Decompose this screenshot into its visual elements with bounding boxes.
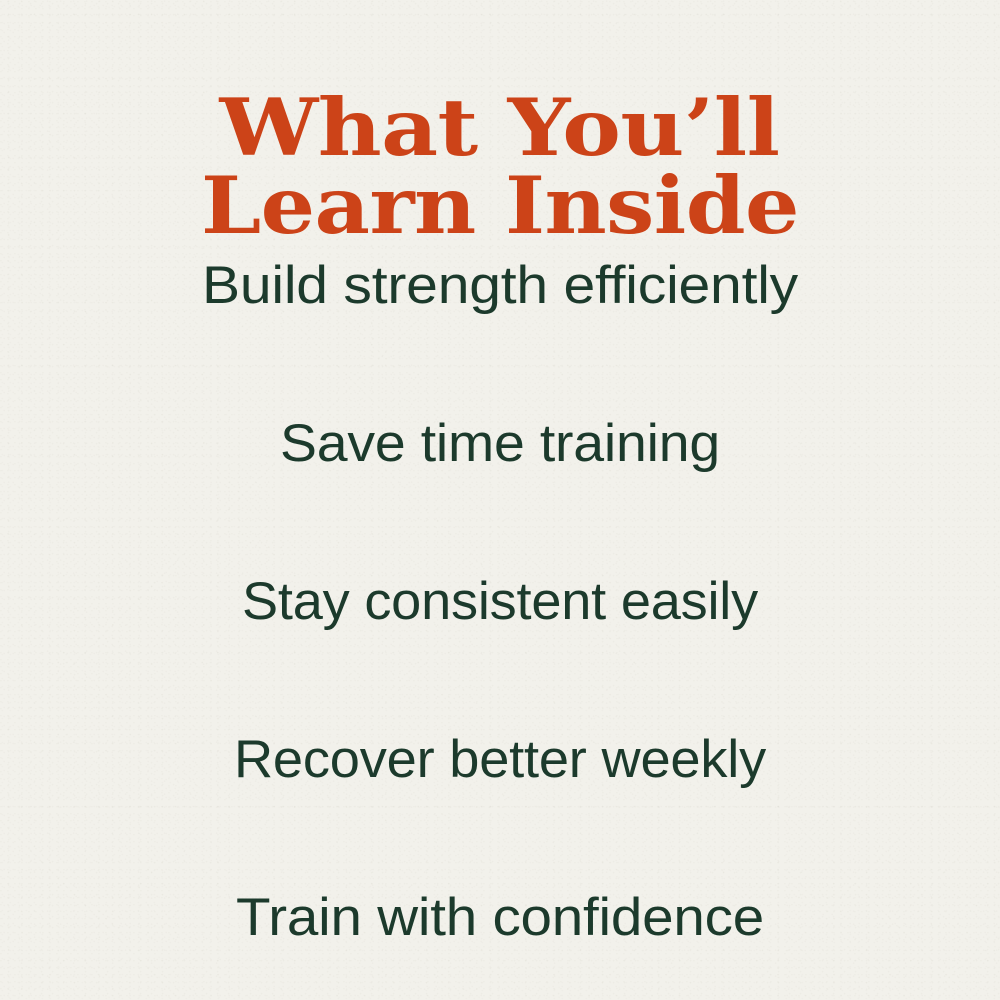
benefits-list: Build strength efficiently Save time tra…	[0, 232, 1000, 952]
page-title: What You’ll Learn Inside	[0, 89, 1000, 245]
benefit-item-3: Stay consistent easily	[0, 567, 1000, 637]
benefit-item-4: Recover better weekly	[0, 725, 1000, 795]
promo-card: What You’ll Learn Inside Build strength …	[0, 0, 1000, 1000]
benefit-item-1: Build strength efficiently	[0, 251, 1000, 321]
card-content: What You’ll Learn Inside Build strength …	[0, 0, 1000, 1000]
benefit-item-2: Save time training	[0, 409, 1000, 479]
benefit-item-5: Train with confidence	[0, 883, 1000, 953]
page-title-line-1: What You’ll	[220, 89, 780, 167]
